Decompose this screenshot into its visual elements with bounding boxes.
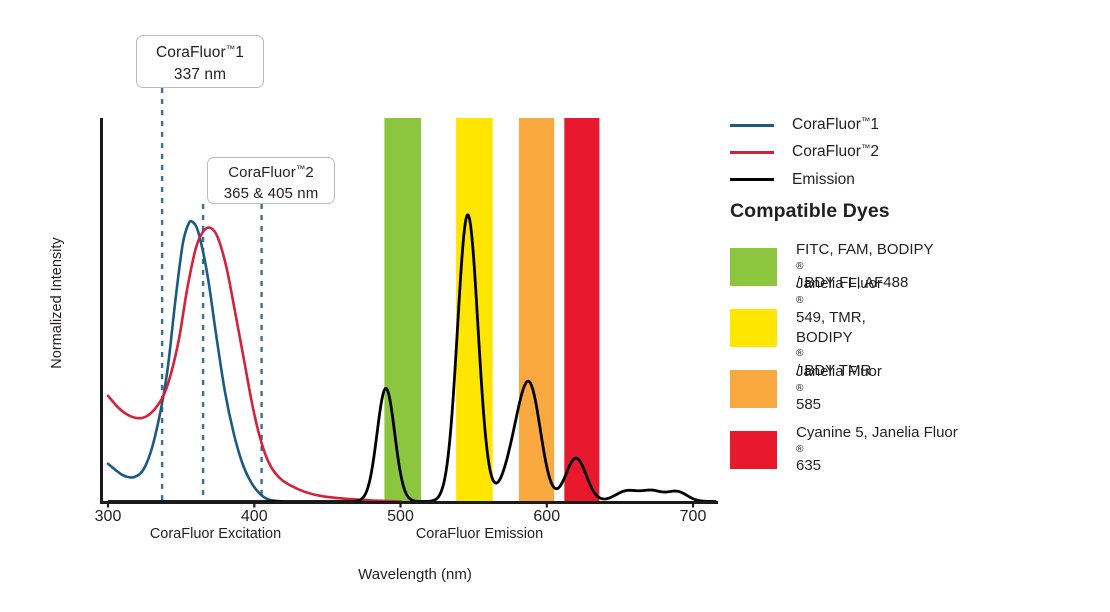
- callout-corafluor-1: CoraFluor™1 337 nm: [136, 35, 264, 88]
- compatible-dyes-heading: Compatible Dyes: [730, 200, 890, 223]
- trademark-symbol: ™: [861, 116, 871, 127]
- dye-color-swatch: [730, 248, 777, 286]
- dye-item-4[interactable]: Cyanine 5, Janelia Fluor® 635: [730, 419, 1100, 480]
- legend-item-label: CoraFluor™1: [792, 116, 879, 134]
- dye-item-3[interactable]: Janelia Fluor® 585: [730, 358, 1100, 419]
- legend-item-3[interactable]: Emission: [730, 166, 1090, 193]
- spectra-figure: CoraFluor™1 337 nm CoraFluor™2 365 & 405…: [0, 0, 1110, 612]
- callout-2-value: 365 & 405 nm: [208, 183, 334, 204]
- x-tick-label-700: 700: [668, 508, 718, 526]
- legend-item-label: CoraFluor™2: [792, 143, 879, 161]
- dye-item-label: Janelia Fluor® 585: [796, 362, 882, 415]
- registered-symbol: ®: [796, 347, 882, 360]
- series-legend: CoraFluor™1CoraFluor™2Emission: [730, 112, 1090, 193]
- x-tick-label-300: 300: [83, 508, 133, 526]
- trademark-symbol: ™: [861, 143, 871, 154]
- dye-item-2[interactable]: Janelia Fluor® 549, TMR,BODIPY®/ BDY TMR: [730, 297, 1100, 358]
- legend-item-1[interactable]: CoraFluor™1: [730, 112, 1090, 139]
- legend-line-swatch: [730, 151, 774, 154]
- legend-item-2[interactable]: CoraFluor™2: [730, 139, 1090, 166]
- trademark-symbol: ™: [226, 44, 236, 55]
- curve-corafluor-2: [108, 228, 401, 502]
- emission-band-4: [564, 118, 599, 502]
- legend-item-label: Emission: [792, 171, 855, 189]
- legend-line-swatch: [730, 178, 774, 181]
- x-tick-label-400: 400: [229, 508, 279, 526]
- x-tick-label-600: 600: [522, 508, 572, 526]
- dye-item-label: Cyanine 5, Janelia Fluor® 635: [796, 423, 958, 476]
- x-tick-label-500: 500: [376, 508, 426, 526]
- callout-2-title: CoraFluor™2: [228, 164, 314, 181]
- dye-color-swatch: [730, 370, 777, 408]
- curve-corafluor-1: [108, 221, 284, 501]
- legend-line-swatch: [730, 124, 774, 127]
- emission-band-1: [384, 118, 421, 502]
- x-axis-title: Wavelength (nm): [270, 566, 560, 583]
- registered-symbol: ®: [796, 260, 934, 273]
- emission-band-group: [384, 118, 599, 502]
- registered-symbol: ®: [796, 382, 882, 395]
- registered-symbol: ®: [796, 443, 958, 456]
- axis-region-label-emission: CoraFluor Emission: [392, 526, 567, 542]
- dye-color-swatch: [730, 309, 777, 347]
- callout-1-title: CoraFluor™1: [156, 44, 244, 61]
- dye-color-swatch: [730, 431, 777, 469]
- compatible-dyes-list: FITC, FAM, BODIPY®/ BDY FL, AF488Janelia…: [730, 236, 1100, 480]
- registered-symbol: ®: [796, 294, 882, 307]
- y-axis-title: Normalized Intensity: [49, 203, 65, 403]
- trademark-symbol: ™: [296, 164, 306, 175]
- dye-item-1[interactable]: FITC, FAM, BODIPY®/ BDY FL, AF488: [730, 236, 1100, 297]
- axis-region-label-excitation: CoraFluor Excitation: [128, 526, 303, 542]
- emission-band-3: [519, 118, 554, 502]
- callout-corafluor-2: CoraFluor™2 365 & 405 nm: [207, 157, 335, 204]
- callout-1-value: 337 nm: [137, 64, 263, 86]
